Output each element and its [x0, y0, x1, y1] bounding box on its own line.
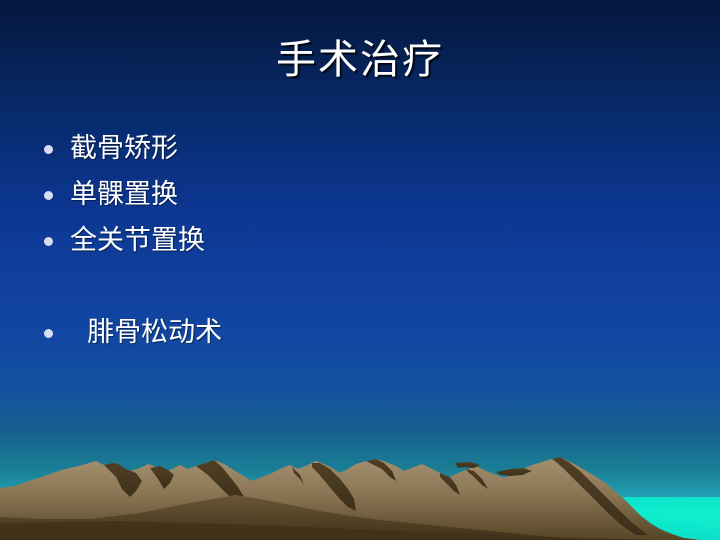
list-item-label: 全关节置换 — [70, 223, 680, 259]
bullet-marker-icon — [44, 237, 53, 246]
list-item: 全关节置换 — [40, 223, 680, 269]
mountain-range-graphic — [0, 455, 720, 540]
list-item-label: 腓骨松动术 — [70, 315, 680, 351]
list-item: 截骨矫形 — [40, 131, 680, 177]
list-item: 腓骨松动术 — [40, 315, 680, 361]
bullet-marker-icon — [44, 329, 53, 338]
list-item-label: 单髁置换 — [70, 177, 680, 213]
list-item-blank — [40, 269, 680, 315]
bullet-marker-icon — [44, 145, 53, 154]
bullet-marker-icon — [44, 191, 53, 200]
bullet-list: 截骨矫形 单髁置换 全关节置换 腓骨松动术 — [40, 131, 680, 361]
list-item-label: 截骨矫形 — [70, 131, 680, 167]
presentation-slide: 手术治疗 截骨矫形 单髁置换 全关节置换 腓骨松动术 — [0, 0, 720, 540]
list-item: 单髁置换 — [40, 177, 680, 223]
slide-title: 手术治疗 — [0, 34, 720, 86]
